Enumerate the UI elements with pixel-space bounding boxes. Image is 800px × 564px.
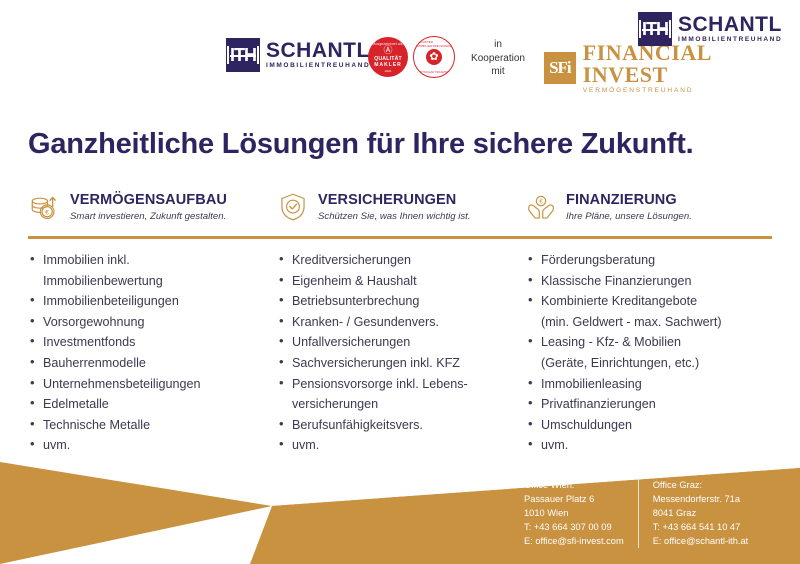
list-item: Vorsorgewohnung	[28, 312, 273, 333]
list-item: Klassische Finanzierungen	[526, 271, 771, 292]
list-item: Privatfinanzierungen	[526, 394, 771, 415]
column-title: VERMÖGENSAUFBAU	[70, 192, 227, 209]
list-item-continuation: (Geräte, Einrichtungen, etc.)	[541, 353, 771, 374]
list-item: Bauherrenmodelle	[28, 353, 273, 374]
seal-year: 2024	[385, 69, 392, 73]
column-header-finanzierung: € FINANZIERUNG Ihre Pläne, unsere Lösung…	[524, 186, 772, 228]
list-item-text: Leasing - Kfz- & Mobilien	[541, 335, 681, 349]
hands-holding-coin-icon: €	[524, 190, 558, 224]
list-item: Kranken- / Gesundenvers.	[277, 312, 522, 333]
list-vermoegensaufbau: Immobilien inkl.ImmobilienbewertungImmob…	[28, 250, 277, 456]
office-city: 8041 Graz	[653, 506, 749, 520]
seal-crest-icon: Ⓐ	[383, 46, 392, 55]
schantl-ith-logo: ITH SCHANTL IMMOBILIENTREUHAND	[226, 38, 370, 72]
sfi-monogram-icon: SFi	[544, 52, 576, 84]
shield-check-icon	[276, 190, 310, 224]
list-item: Pensionsvorsorge inkl. Lebens-versicheru…	[277, 374, 522, 415]
office-name: Office Wien:	[524, 478, 624, 492]
list-item-text: Immobilienbeteiligungen	[43, 294, 179, 308]
list-item-text: Immobilienleasing	[541, 377, 642, 391]
schantl-subtitle: IMMOBILIENTREUHAND	[266, 63, 370, 70]
coins-euro-growth-icon: €	[28, 190, 62, 224]
list-versicherungen: KreditversicherungenEigenheim & Haushalt…	[277, 250, 526, 456]
list-item: Betriebsunterbrechung	[277, 291, 522, 312]
list-item-text: Unfallversicherungen	[292, 335, 410, 349]
page-title: Ganzheitliche Lösungen für Ihre sichere …	[28, 128, 772, 161]
cooperation-line-3: mit	[462, 65, 534, 79]
column-header-versicherungen: VERSICHERUNGEN Schützen Sie, was Ihnen w…	[276, 186, 524, 228]
ith-monogram-text-top: ITH	[639, 20, 671, 38]
schantl-name-top: SCHANTL	[678, 14, 782, 35]
list-item: Edelmetalle	[28, 394, 273, 415]
list-item: Kreditversicherungen	[277, 250, 522, 271]
schantl-subtitle-top: IMMOBILIENTREUHAND	[678, 37, 782, 44]
column-header-vermoegensaufbau: € VERMÖGENSAUFBAU Smart investieren, Zuk…	[28, 186, 276, 228]
list-item: Umschuldungen	[526, 415, 771, 436]
list-item: Leasing - Kfz- & Mobilien(Geräte, Einric…	[526, 332, 771, 373]
qualitaetsmakler-seal-icon: Ausgezeichnet als Ⓐ QUALITÄT MAKLER 2024	[368, 37, 408, 77]
list-item-continuation: (min. Geldwert - max. Sachwert)	[541, 312, 771, 333]
list-item: Technische Metalle	[28, 415, 273, 436]
office-email[interactable]: E: office@sfi-invest.com	[524, 534, 624, 548]
ith-monogram-icon: ITH	[226, 38, 260, 72]
column-subtitle: Ihre Pläne, unsere Lösungen.	[566, 211, 692, 222]
list-item-text: Betriebsunterbrechung	[292, 294, 419, 308]
footer-contacts: Office Wien: Passauer Platz 6 1010 Wien …	[524, 478, 748, 548]
list-item: Unfallversicherungen	[277, 332, 522, 353]
column-subtitle: Schützen Sie, was Ihnen wichtig ist.	[318, 211, 471, 222]
list-item: Berufsunfähigkeitsvers.	[277, 415, 522, 436]
office-wien-block: Office Wien: Passauer Platz 6 1010 Wien …	[524, 478, 638, 548]
list-item: Kombinierte Kreditangebote(min. Geldwert…	[526, 291, 771, 332]
ith-monogram-icon-top: ITH	[638, 12, 672, 46]
office-street: Passauer Platz 6	[524, 492, 624, 506]
list-item-text: Eigenheim & Haushalt	[292, 274, 417, 288]
certification-seals: Ausgezeichnet als Ⓐ QUALITÄT MAKLER 2024…	[368, 36, 455, 78]
sfi-name: FINANCIAL INVEST	[583, 42, 800, 86]
list-item: Unternehmensbeteiligungen	[28, 374, 273, 395]
list-item-text: Umschuldungen	[541, 418, 632, 432]
seal-rosette-icon: ✿	[426, 49, 442, 65]
list-item-text: Immobilien inkl.	[43, 253, 130, 267]
list-item-continuation: Immobilienbewertung	[43, 271, 273, 292]
schantl-wordmark: SCHANTL IMMOBILIENTREUHAND	[266, 40, 370, 70]
list-item-text: Sachversicherungen inkl. KFZ	[292, 356, 460, 370]
list-item-text: Kombinierte Kreditangebote	[541, 294, 697, 308]
svg-text:€: €	[539, 200, 543, 206]
list-item: Immobilien inkl.Immobilienbewertung	[28, 250, 273, 291]
column-title: VERSICHERUNGEN	[318, 192, 471, 209]
list-item-text: Klassische Finanzierungen	[541, 274, 692, 288]
column-title: FINANZIERUNG	[566, 192, 692, 209]
service-column-headers: € VERMÖGENSAUFBAU Smart investieren, Zuk…	[28, 186, 772, 228]
list-item-text: Berufsunfähigkeitsvers.	[292, 418, 423, 432]
list-item-text: Privatfinanzierungen	[541, 397, 656, 411]
list-item: Eigenheim & Haushalt	[277, 271, 522, 292]
cooperation-line-1: in	[462, 38, 534, 52]
office-graz-block: Office Graz: Messendorferstr. 71a 8041 G…	[638, 478, 749, 548]
column-subtitle: Smart investieren, Zukunft gestalten.	[70, 211, 227, 222]
seal-line2: MAKLER	[374, 62, 401, 68]
list-item-text: Kranken- / Gesundenvers.	[292, 315, 439, 329]
cooperation-note: in Kooperation mit	[462, 38, 534, 79]
cooperation-line-2: Kooperation	[462, 52, 534, 66]
list-item-text: Förderungsberatung	[541, 253, 655, 267]
office-phone[interactable]: T: +43 664 307 00 09	[524, 520, 624, 534]
sfi-subtitle: VERMÖGENSTREUHAND	[583, 88, 800, 95]
service-lists: Immobilien inkl.ImmobilienbewertungImmob…	[28, 250, 776, 456]
schantl-wordmark-top: SCHANTL IMMOBILIENTREUHAND	[678, 14, 782, 44]
list-item-continuation: versicherungen	[292, 394, 522, 415]
list-item: Investmentfonds	[28, 332, 273, 353]
list-item: Förderungsberatung	[526, 250, 771, 271]
bullet-list: FörderungsberatungKlassische Finanzierun…	[526, 250, 771, 456]
list-item-text: Investmentfonds	[43, 335, 135, 349]
list-item-text: Kreditversicherungen	[292, 253, 411, 267]
schantl-name: SCHANTL	[266, 40, 370, 61]
ith-monogram-text: ITH	[227, 46, 259, 64]
list-item-text: Bauherrenmodelle	[43, 356, 146, 370]
list-item: Immobilienleasing	[526, 374, 771, 395]
list-item: Immobilienbeteiligungen	[28, 291, 273, 312]
bullet-list: Immobilien inkl.ImmobilienbewertungImmob…	[28, 250, 273, 456]
schantl-ith-logo-top: ITH SCHANTL IMMOBILIENTREUHAND	[638, 12, 782, 46]
footer-left-wedge	[0, 462, 272, 564]
office-city: 1010 Wien	[524, 506, 624, 520]
office-street: Messendorferstr. 71a	[653, 492, 749, 506]
marketing-flyer: ITH SCHANTL IMMOBILIENTREUHAND Ausgezeic…	[0, 0, 800, 564]
office-email[interactable]: E: office@schantl-ith.at	[653, 534, 749, 548]
treuhand-seal-icon: GEPRÜFTER IMMOBILIENTREUHÄNDER ✿ WIRTSCH…	[413, 36, 455, 78]
list-item: Sachversicherungen inkl. KFZ	[277, 353, 522, 374]
bullet-list: KreditversicherungenEigenheim & Haushalt…	[277, 250, 522, 456]
list-item-text: Pensionsvorsorge inkl. Lebens-	[292, 377, 468, 391]
list-item-text: Technische Metalle	[43, 418, 150, 432]
office-phone[interactable]: T: +43 664 541 10 47	[653, 520, 749, 534]
list-item-text: Edelmetalle	[43, 397, 109, 411]
svg-text:€: €	[45, 210, 49, 217]
gold-divider	[28, 236, 772, 239]
sfi-financial-invest-logo: SFi FINANCIAL INVEST VERMÖGENSTREUHAND	[544, 42, 800, 95]
office-name: Office Graz:	[653, 478, 749, 492]
list-item-text: Vorsorgewohnung	[43, 315, 145, 329]
list-finanzierung: FörderungsberatungKlassische Finanzierun…	[526, 250, 775, 456]
seal-ring-top-text: GEPRÜFTER IMMOBILIENTREUHÄNDER	[414, 40, 454, 48]
sfi-wordmark: FINANCIAL INVEST VERMÖGENSTREUHAND	[583, 42, 800, 95]
list-item-text: Unternehmensbeteiligungen	[43, 377, 201, 391]
logo-bar: ITH SCHANTL IMMOBILIENTREUHAND Ausgezeic…	[0, 0, 800, 100]
seal-ring-bottom-text: WIRTSCHAFTSKAMMER	[416, 70, 452, 74]
